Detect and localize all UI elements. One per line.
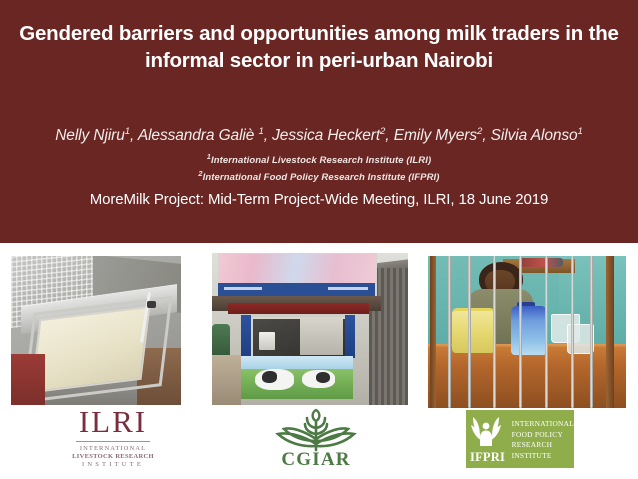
ilri-wordmark: ILRI	[48, 406, 178, 437]
author-name-2: , Jessica Heckert	[264, 127, 380, 144]
photo2-milk-bucket	[259, 332, 275, 350]
author-name-3: , Emily Myers	[385, 127, 477, 144]
ilri-subtitle-line-1: INTERNATIONAL	[48, 445, 178, 453]
photo3-shelf-items	[519, 258, 563, 267]
page-title: Gendered barriers and opportunities amon…	[18, 20, 620, 74]
affiliation-1-text: International Livestock Research Institu…	[211, 155, 431, 166]
cgiar-logo: CGIAR	[264, 408, 368, 474]
affiliation-2: 2International Food Policy Research Inst…	[14, 169, 624, 183]
title-band: Gendered barriers and opportunities amon…	[0, 0, 638, 243]
photo3-blue-jerrycan	[511, 306, 547, 355]
ilri-subtitle-line-3: INSTITUTE	[48, 461, 178, 469]
affiliation-2-text: International Food Policy Research Insti…	[203, 172, 440, 183]
photo3-wooden-counter	[428, 347, 626, 408]
ilri-subtitle-line-2: LIVESTOCK RESEARCH	[48, 453, 178, 461]
ifpri-logo: IFPRI INTERNATIONAL FOOD POLICY RESEARCH…	[466, 410, 574, 468]
photo2-gas-cylinder	[212, 324, 230, 357]
ifpri-plant-person-icon	[471, 414, 501, 448]
photo2-cow-right	[302, 370, 335, 388]
ifpri-wordmark: IFPRI	[470, 450, 505, 465]
photo3-metal-bar	[493, 256, 496, 408]
photo2-blue-pillar-left	[241, 315, 251, 358]
photo-milk-shop-storefront	[212, 253, 408, 405]
photo-milk-chiller	[11, 256, 181, 405]
photo1-milk-surface	[30, 305, 150, 392]
photo2-red-fascia-sign	[228, 303, 369, 314]
photo-woman-milk-vendor	[428, 256, 626, 408]
presentation-slide: Gendered barriers and opportunities amon…	[0, 0, 638, 479]
photo3-metal-bar	[590, 256, 593, 408]
cgiar-wheat-icon	[264, 408, 368, 452]
photo3-frame-left	[430, 256, 436, 408]
photo3-metal-bar	[448, 256, 451, 408]
photo1-plug	[147, 301, 156, 308]
author-list: Nelly Njiru1, Alessandra Galiè 1, Jessic…	[14, 126, 624, 146]
ifpri-subtitle-line-1: INTERNATIONAL	[512, 419, 574, 430]
ilri-logo: ILRI INTERNATIONAL LIVESTOCK RESEARCH IN…	[48, 406, 178, 472]
author-name-0: Nelly Njiru	[55, 127, 125, 144]
photo2-window-panel	[300, 318, 343, 354]
photo3-metal-bar	[571, 256, 574, 408]
author-affiliation-marker-4: 1	[578, 126, 583, 137]
photo2-cow-left	[255, 369, 294, 390]
photo2-blue-pillar-right	[345, 315, 355, 358]
photo2-wooden-bench	[212, 355, 241, 405]
ifpri-subtitle: INTERNATIONAL FOOD POLICY RESEARCH INSTI…	[509, 410, 574, 468]
photo3-metal-bar	[468, 256, 471, 408]
photo2-mural-sky	[239, 356, 353, 368]
ifpri-subtitle-line-2: FOOD POLICY	[512, 430, 574, 441]
affiliation-1: 1International Livestock Research Instit…	[14, 152, 624, 166]
photo3-frame-right	[606, 256, 614, 408]
author-name-4: , Silvia Alonso	[482, 127, 577, 144]
photo3-metal-bar	[545, 256, 548, 408]
cgiar-wordmark: CGIAR	[264, 450, 368, 469]
photo2-billboard-phone-strip	[218, 283, 375, 295]
ilri-divider	[76, 441, 150, 442]
photo3-metal-bar	[519, 256, 522, 408]
photo3-yellow-container	[452, 308, 496, 354]
photo1-red-foreground	[11, 354, 45, 405]
ifpri-subtitle-line-4: INSTITUTE	[512, 451, 574, 462]
ifpri-mark-area: IFPRI	[466, 410, 509, 468]
event-subtitle: MoreMilk Project: Mid-Term Project-Wide …	[14, 191, 624, 208]
ifpri-subtitle-line-3: RESEARCH	[512, 440, 574, 451]
author-name-1: , Alessandra Galiè	[130, 127, 258, 144]
